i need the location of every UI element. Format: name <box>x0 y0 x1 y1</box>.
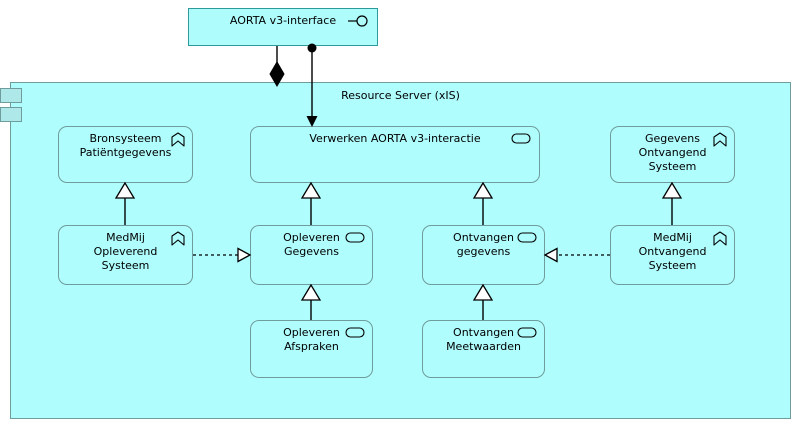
application-service-icon <box>345 231 365 244</box>
component-icon-tab-top <box>0 88 22 103</box>
diagram-canvas: Resource Server (xIS) AORTA v3-interface… <box>0 0 801 429</box>
node-gegevens-ontvangend-systeem[interactable]: Gegevens Ontvangend Systeem <box>610 126 735 183</box>
node-opleveren-gegevens[interactable]: Opleveren Gegevens <box>250 225 373 285</box>
node-medmij-ontvangend-systeem[interactable]: MedMij Ontvangend Systeem <box>610 225 735 285</box>
node-ontvangen-meetwaarden[interactable]: Ontvangen Meetwaarden <box>422 320 545 378</box>
application-service-icon <box>511 132 531 145</box>
application-service-icon <box>345 326 365 339</box>
node-medmij-opleverend-systeem[interactable]: MedMij Opleverend Systeem <box>58 225 193 285</box>
node-label-verwerken-aorta-v3-interactie: Verwerken AORTA v3-interactie <box>251 132 539 146</box>
application-service-icon <box>517 231 537 244</box>
rel-composition <box>270 46 284 86</box>
component-icon-tab-bottom <box>0 107 22 122</box>
node-aorta-v3-interface[interactable]: AORTA v3-interface <box>188 8 378 46</box>
application-component-chevron-icon <box>170 132 186 147</box>
node-verwerken-aorta-v3-interactie[interactable]: Verwerken AORTA v3-interactie <box>250 126 540 183</box>
node-opleveren-afspraken[interactable]: Opleveren Afspraken <box>250 320 373 378</box>
application-component-chevron-icon <box>712 132 728 147</box>
interface-lollipop-icon <box>347 14 369 28</box>
node-ontvangen-gegevens[interactable]: Ontvangen gegevens <box>422 225 545 285</box>
application-component-chevron-icon <box>170 231 186 246</box>
node-bronsysteem-patientgegevens[interactable]: Bronsysteem Patiëntgegevens <box>58 126 193 183</box>
container-label: Resource Server (xIS) <box>11 89 790 102</box>
application-service-icon <box>517 326 537 339</box>
application-component-chevron-icon <box>712 231 728 246</box>
